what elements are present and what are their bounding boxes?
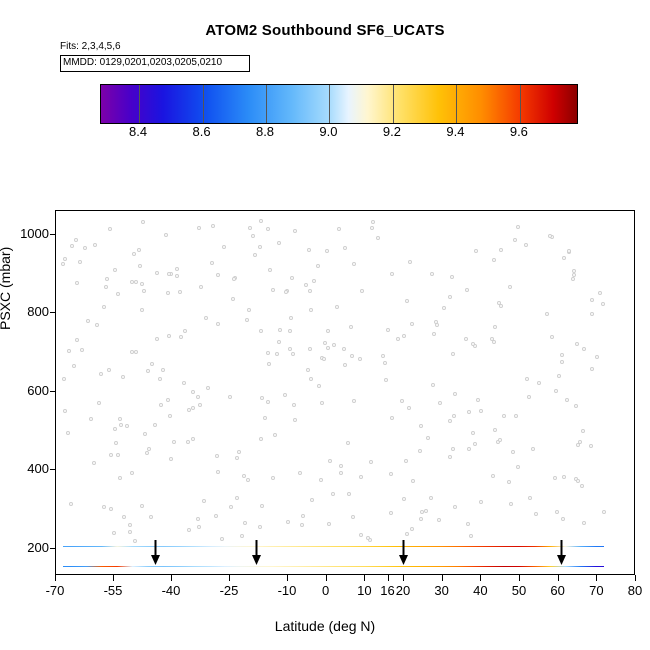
sample-point bbox=[419, 424, 423, 428]
sample-point bbox=[130, 471, 134, 475]
sample-point bbox=[514, 414, 518, 418]
sample-point bbox=[567, 249, 571, 253]
sample-point bbox=[435, 323, 439, 327]
sample-point bbox=[571, 277, 575, 281]
sample-point bbox=[438, 401, 442, 405]
sample-point bbox=[166, 398, 170, 402]
sample-point bbox=[247, 308, 251, 312]
sample-point bbox=[405, 299, 409, 303]
sample-point bbox=[89, 417, 93, 421]
sample-point bbox=[402, 334, 406, 338]
sample-point bbox=[78, 260, 82, 264]
sample-point bbox=[578, 440, 582, 444]
sample-point bbox=[277, 340, 281, 344]
sample-point bbox=[358, 357, 362, 361]
sample-point bbox=[442, 306, 446, 310]
sample-point bbox=[352, 262, 356, 266]
sample-point bbox=[140, 282, 144, 286]
sample-point bbox=[168, 414, 172, 418]
x-tick-label: -70 bbox=[46, 583, 65, 598]
sample-point bbox=[113, 268, 117, 272]
sample-point bbox=[268, 268, 272, 272]
sample-point bbox=[158, 377, 162, 381]
colorbar-tick bbox=[520, 85, 521, 123]
sample-point bbox=[310, 498, 314, 502]
sample-point bbox=[216, 273, 220, 277]
colorbar-tick bbox=[139, 85, 140, 123]
sample-point bbox=[562, 256, 566, 260]
sample-point bbox=[259, 329, 263, 333]
sample-point bbox=[589, 444, 593, 448]
x-tick-mark bbox=[388, 575, 389, 581]
sample-point bbox=[582, 521, 586, 525]
sample-point bbox=[232, 277, 236, 281]
sample-point bbox=[191, 390, 195, 394]
sample-point bbox=[222, 245, 226, 249]
x-tick-label: 16 bbox=[380, 583, 394, 598]
sample-point bbox=[448, 295, 452, 299]
y-tick-label: 1000 bbox=[9, 226, 49, 241]
sample-point bbox=[242, 474, 246, 478]
sample-point bbox=[590, 367, 594, 371]
sample-point bbox=[291, 352, 295, 356]
x-tick-label: 0 bbox=[322, 583, 329, 598]
x-tick-label: -40 bbox=[162, 583, 181, 598]
sample-point bbox=[370, 226, 374, 230]
x-tick-label: 80 bbox=[628, 583, 642, 598]
y-tick-label: 200 bbox=[9, 540, 49, 555]
y-tick-mark bbox=[50, 548, 56, 549]
colorbar-tick bbox=[266, 85, 267, 123]
sample-point bbox=[290, 276, 294, 280]
x-tick-label: 30 bbox=[434, 583, 448, 598]
sample-point bbox=[283, 393, 287, 397]
sample-point bbox=[499, 304, 503, 308]
sample-point bbox=[327, 522, 331, 526]
x-tick-label: -10 bbox=[278, 583, 297, 598]
colorbar-tick-label: 8.8 bbox=[256, 124, 274, 139]
sample-point bbox=[429, 496, 433, 500]
sample-point bbox=[531, 447, 535, 451]
sample-point bbox=[553, 476, 557, 480]
sample-point bbox=[130, 350, 134, 354]
sample-point bbox=[426, 436, 430, 440]
sample-point bbox=[206, 386, 210, 390]
x-tick-mark bbox=[442, 575, 443, 581]
sample-point bbox=[275, 352, 279, 356]
colorbar-tick-label: 9.6 bbox=[510, 124, 528, 139]
colorbar-tick-label: 9.0 bbox=[319, 124, 337, 139]
sample-point bbox=[191, 437, 195, 441]
x-tick-mark bbox=[287, 575, 288, 581]
sample-point bbox=[118, 476, 122, 480]
sample-point bbox=[147, 447, 151, 451]
sample-point bbox=[259, 437, 263, 441]
sample-point bbox=[298, 471, 302, 475]
sample-point bbox=[93, 243, 97, 247]
x-tick-mark bbox=[229, 575, 230, 581]
x-tick-mark bbox=[403, 575, 404, 581]
x-tick-label: 70 bbox=[589, 583, 603, 598]
sample-point bbox=[108, 227, 112, 231]
sample-point bbox=[121, 375, 125, 379]
x-tick-label: 10 bbox=[357, 583, 371, 598]
colorbar bbox=[100, 84, 578, 124]
fits-label: Fits: 2,3,4,5,6 bbox=[60, 41, 121, 52]
sample-point bbox=[240, 534, 244, 538]
colorbar-tick-label: 8.6 bbox=[192, 124, 210, 139]
sample-point bbox=[72, 364, 76, 368]
sample-point bbox=[167, 272, 171, 276]
sample-point bbox=[419, 517, 423, 521]
sample-point bbox=[146, 369, 150, 373]
colorbar-gradient bbox=[101, 85, 577, 123]
sample-point bbox=[86, 319, 90, 323]
x-tick-mark bbox=[113, 575, 114, 581]
sample-point bbox=[138, 264, 142, 268]
sample-point bbox=[248, 226, 252, 230]
sample-point bbox=[133, 539, 137, 543]
heatmap-row bbox=[63, 566, 604, 567]
sample-point bbox=[598, 291, 602, 295]
sample-point bbox=[312, 279, 316, 283]
sample-point bbox=[182, 381, 186, 385]
down-arrow-icon bbox=[556, 540, 567, 566]
sample-point bbox=[245, 318, 249, 322]
sample-point bbox=[155, 271, 159, 275]
y-tick-mark bbox=[50, 391, 56, 392]
sample-point bbox=[61, 262, 65, 266]
sample-point bbox=[580, 484, 584, 488]
sample-point bbox=[187, 528, 191, 532]
sample-point bbox=[267, 362, 271, 366]
sample-point bbox=[277, 241, 281, 245]
sample-point bbox=[159, 403, 163, 407]
colorbar-tick bbox=[329, 85, 330, 123]
sample-point bbox=[572, 273, 576, 277]
heatmap-cells bbox=[55, 210, 635, 575]
x-tick-mark bbox=[55, 575, 56, 581]
sample-point bbox=[339, 464, 343, 468]
y-tick-label: 600 bbox=[9, 383, 49, 398]
colorbar-tick bbox=[456, 85, 457, 123]
colorbar-tick-label: 9.4 bbox=[446, 124, 464, 139]
sample-point bbox=[258, 525, 262, 529]
y-tick-mark bbox=[50, 469, 56, 470]
x-tick-mark bbox=[596, 575, 597, 581]
sample-point bbox=[465, 288, 469, 292]
sample-point bbox=[498, 438, 502, 442]
heatmap-plot bbox=[55, 210, 635, 575]
sample-point bbox=[309, 377, 313, 381]
sample-point bbox=[237, 450, 241, 454]
sample-point bbox=[516, 225, 520, 229]
x-tick-mark bbox=[519, 575, 520, 581]
sample-point bbox=[260, 396, 264, 400]
y-tick-mark bbox=[50, 312, 56, 313]
sample-point bbox=[292, 403, 296, 407]
sample-point bbox=[259, 219, 263, 223]
sample-point bbox=[490, 337, 494, 341]
sample-point bbox=[389, 511, 393, 515]
sample-point bbox=[400, 399, 404, 403]
sample-point bbox=[214, 514, 218, 518]
sample-point bbox=[319, 478, 323, 482]
sample-point bbox=[80, 348, 84, 352]
down-arrow-icon bbox=[398, 540, 409, 566]
x-tick-label: -55 bbox=[104, 583, 123, 598]
sample-point bbox=[260, 504, 264, 508]
sample-point bbox=[491, 474, 495, 478]
x-tick-label: 40 bbox=[473, 583, 487, 598]
x-tick-mark bbox=[364, 575, 365, 581]
sample-point bbox=[404, 459, 408, 463]
sample-point bbox=[140, 308, 144, 312]
x-tick-mark bbox=[635, 575, 636, 581]
sample-point bbox=[554, 389, 558, 393]
sample-point bbox=[75, 281, 79, 285]
sample-point bbox=[198, 403, 202, 407]
sample-point bbox=[107, 368, 111, 372]
x-tick-label: 60 bbox=[550, 583, 564, 598]
x-tick-mark bbox=[480, 575, 481, 581]
sample-point bbox=[511, 450, 515, 454]
colorbar-tick-labels: 8.48.68.89.09.29.49.6 bbox=[100, 124, 576, 142]
sample-point bbox=[474, 249, 478, 253]
sample-point bbox=[258, 245, 262, 249]
sample-point bbox=[309, 308, 313, 312]
sample-point bbox=[229, 505, 233, 509]
sample-point bbox=[359, 533, 363, 537]
colorbar-tick-label: 8.4 bbox=[129, 124, 147, 139]
sample-point bbox=[132, 252, 136, 256]
sample-point bbox=[273, 433, 277, 437]
y-tick-mark bbox=[50, 234, 56, 235]
x-tick-mark bbox=[326, 575, 327, 581]
colorbar-tick bbox=[203, 85, 204, 123]
sample-point bbox=[437, 518, 441, 522]
sample-point bbox=[153, 423, 157, 427]
heatmap-row bbox=[63, 546, 604, 547]
sample-point bbox=[66, 431, 70, 435]
sample-point bbox=[376, 236, 380, 240]
sample-point bbox=[118, 417, 122, 421]
sample-point bbox=[271, 288, 275, 292]
sample-point bbox=[99, 372, 103, 376]
sample-point bbox=[516, 465, 520, 469]
sample-point bbox=[493, 325, 497, 329]
sample-point bbox=[134, 280, 138, 284]
down-arrow-icon bbox=[150, 540, 161, 566]
sample-point bbox=[253, 253, 257, 257]
sample-point bbox=[102, 305, 106, 309]
colorbar-tick-label: 9.2 bbox=[383, 124, 401, 139]
sample-point bbox=[339, 471, 343, 475]
sample-point bbox=[471, 342, 475, 346]
sample-point bbox=[166, 291, 170, 295]
sample-point bbox=[95, 323, 99, 327]
sample-point bbox=[560, 353, 564, 357]
sample-point bbox=[508, 285, 512, 289]
plot-mask bbox=[604, 210, 635, 575]
sample-point bbox=[211, 224, 215, 228]
mmdd-label: MMDD: 0129,0201,0203,0205,0210 bbox=[63, 57, 222, 68]
sample-point bbox=[179, 335, 183, 339]
sample-point bbox=[452, 414, 456, 418]
sample-point bbox=[216, 322, 220, 326]
sample-point bbox=[581, 429, 585, 433]
colorbar-tick bbox=[393, 85, 394, 123]
x-tick-mark bbox=[558, 575, 559, 581]
x-tick-mark bbox=[171, 575, 172, 581]
down-arrow-icon bbox=[251, 540, 262, 566]
sample-point bbox=[102, 505, 106, 509]
sample-point bbox=[288, 329, 292, 333]
x-tick-label: -25 bbox=[220, 583, 239, 598]
sample-point bbox=[62, 377, 66, 381]
sample-point bbox=[342, 347, 346, 351]
x-axis-label: Latitude (deg N) bbox=[0, 618, 650, 634]
sample-point bbox=[293, 229, 297, 233]
x-tick-label: 50 bbox=[512, 583, 526, 598]
y-tick-label: 400 bbox=[9, 461, 49, 476]
sample-point bbox=[527, 395, 531, 399]
sample-point bbox=[360, 289, 364, 293]
sample-point bbox=[307, 248, 311, 252]
x-tick-label: 20 bbox=[396, 583, 410, 598]
sample-point bbox=[128, 530, 132, 534]
page-title: ATOM2 Southbound SF6_UCATS bbox=[0, 22, 650, 39]
sample-point bbox=[359, 475, 363, 479]
y-tick-label: 800 bbox=[9, 304, 49, 319]
sample-point bbox=[335, 305, 339, 309]
sample-point bbox=[548, 234, 552, 238]
sample-point bbox=[116, 453, 120, 457]
sample-point bbox=[125, 424, 129, 428]
chart-canvas: ATOM2 Southbound SF6_UCATS Fits: 2,3,4,5… bbox=[0, 0, 650, 650]
sample-point bbox=[507, 480, 511, 484]
